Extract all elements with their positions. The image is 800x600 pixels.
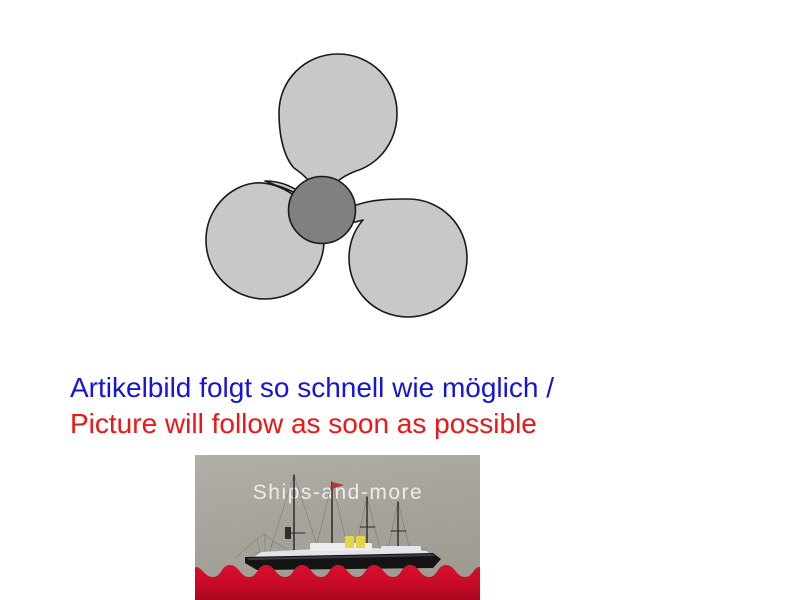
message-line-german: Artikelbild folgt so schnell wie möglich… xyxy=(70,370,730,406)
propeller-graphic xyxy=(160,40,490,330)
placeholder-message: Artikelbild folgt so schnell wie möglich… xyxy=(70,370,730,442)
blade-top xyxy=(279,54,397,200)
message-line-english: Picture will follow as soon as possible xyxy=(70,406,730,442)
funnel-2 xyxy=(356,536,365,548)
deckhouse-aft xyxy=(381,546,421,552)
ship-photo-canvas: Ships-and-more xyxy=(195,455,480,600)
forward-deckhouse xyxy=(285,527,291,539)
ship-propeller-icon xyxy=(160,40,490,330)
placeholder-page: Artikelbild folgt so schnell wie möglich… xyxy=(0,0,800,600)
funnel-1 xyxy=(345,536,354,548)
propeller-hub xyxy=(289,177,356,244)
model-ship-photo: Ships-and-more xyxy=(195,455,480,600)
